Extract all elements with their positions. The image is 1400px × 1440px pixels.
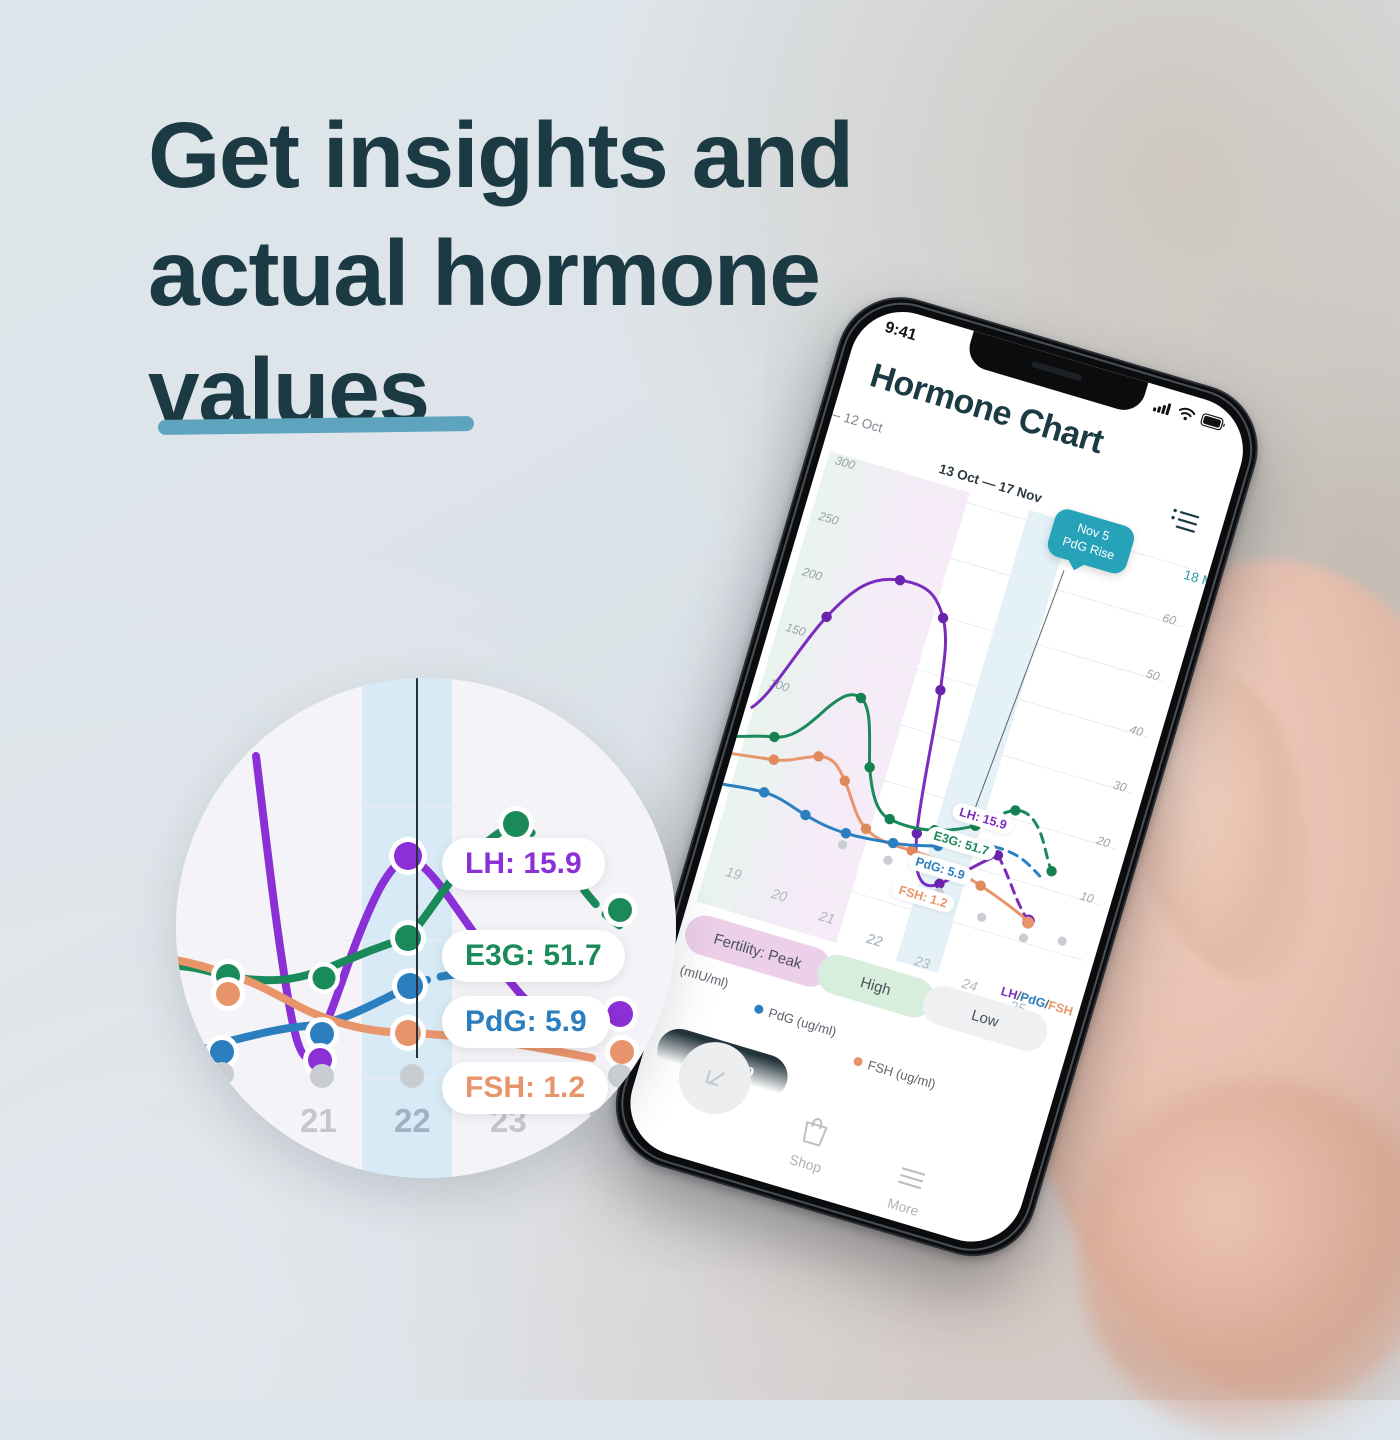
legend-item-fsh[interactable]: FSH (ug/ml) — [852, 1053, 938, 1092]
magnifier-callout-pdg[interactable]: PdG: 5.9 — [442, 996, 610, 1048]
tab-more-label: More — [886, 1195, 921, 1219]
hamburger-menu-icon — [865, 1155, 958, 1205]
cellular-signal-icon — [1151, 398, 1173, 420]
legend-item-lh[interactable]: (mIU/ml) — [678, 962, 730, 991]
legend-dot-pdg — [753, 1004, 764, 1015]
wifi-icon — [1175, 406, 1196, 428]
battery-icon — [1198, 412, 1227, 436]
magnifier-x-label-22: 22 — [394, 1102, 431, 1140]
date-range-previous[interactable]: ep — 12 Oct — [807, 400, 884, 436]
legend-label-pdg: PdG (ug/ml) — [767, 1005, 838, 1039]
magnifier-callout-e3g[interactable]: E3G: 51.7 — [442, 930, 625, 982]
shopping-bag-icon — [767, 1104, 863, 1161]
status-time: 9:41 — [883, 319, 919, 345]
hormone-chart[interactable]: 300 250 200 150 100 60 50 40 30 20 10 — [689, 449, 1212, 1015]
legend-label-lh: (mIU/ml) — [678, 962, 730, 991]
tab-shop-label: Shop — [788, 1151, 824, 1176]
legend-dot-fsh — [852, 1056, 863, 1067]
tab-more[interactable]: More — [858, 1155, 958, 1228]
magnifier-callout-lh[interactable]: LH: 15.9 — [442, 838, 605, 890]
magnifier-zoom-view: 21 22 23 24 LH: 15.9 E3G: 51.7 PdG: 5.9 … — [176, 678, 676, 1178]
tab-shop[interactable]: Shop — [760, 1104, 862, 1184]
legend-label-fsh: FSH (ug/ml) — [866, 1057, 937, 1091]
legend-item-pdg[interactable]: PdG (ug/ml) — [752, 1001, 838, 1040]
magnifier-x-label-21: 21 — [300, 1102, 337, 1140]
headline-line-1: Get insights and — [148, 96, 1028, 214]
magnifier-cursor-line — [416, 678, 418, 1058]
magnifier-callout-fsh[interactable]: FSH: 1.2 — [442, 1062, 608, 1114]
